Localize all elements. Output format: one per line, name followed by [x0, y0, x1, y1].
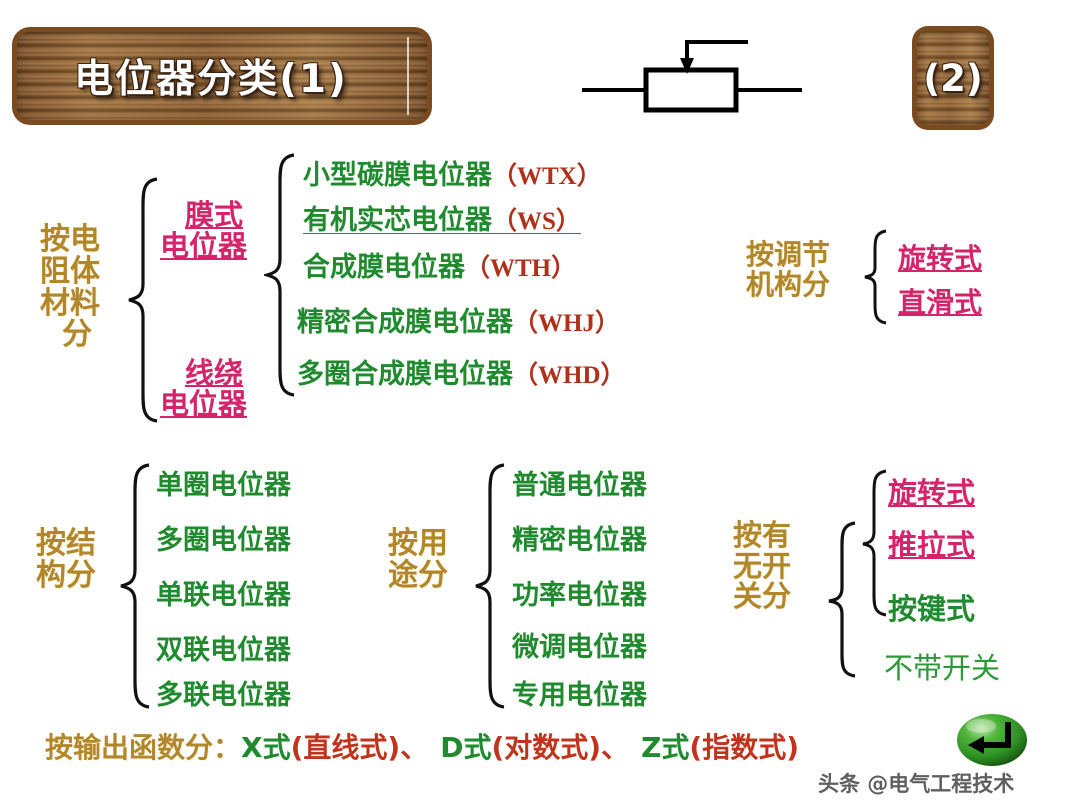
list-item: 推拉式	[888, 522, 975, 564]
list-item: 按键式	[888, 586, 975, 628]
output-function-line: 按输出函数分：X式(直线式)、D式(对数式)、Z式(指数式)	[45, 726, 799, 766]
list-item: 单圈电位器	[156, 463, 291, 502]
output-function-code: X式	[241, 731, 291, 764]
list-item: 有机实芯电位器（WS）	[303, 198, 581, 237]
group-label-by-switch: 按有 无开 关分	[733, 520, 791, 612]
page-number-text: (2)	[912, 26, 994, 130]
list-item: 精密电位器	[512, 518, 647, 557]
list-item: 小型碳膜电位器（WTX）	[303, 153, 602, 192]
page-title: 电位器分类(1)	[12, 27, 410, 125]
brace-by-switch-outer	[826, 520, 862, 680]
list-item: 合成膜电位器（WTH）	[303, 245, 576, 284]
list-item: 不带开关	[884, 645, 1000, 687]
list-item: 功率电位器	[512, 573, 647, 612]
output-function-prefix: 按输出函数分：	[45, 731, 241, 764]
group-label-by-adjusting-mechanism: 按调节 机构分	[746, 240, 830, 299]
list-item: 直滑式	[898, 281, 982, 321]
output-function-desc: (指数式)	[689, 731, 799, 764]
brace-by-application	[473, 462, 511, 710]
brace-by-structure	[118, 462, 156, 710]
list-item: 普通电位器	[512, 463, 647, 502]
brace-by-adjusting-mechanism	[862, 228, 892, 326]
output-function-code: Z式	[641, 731, 689, 764]
subgroup-label-film-type: 膜式 电位器	[160, 200, 268, 261]
watermark-text: 头条 @电气工程技术	[818, 768, 1014, 798]
list-item: 双联电位器	[156, 628, 291, 667]
group-label-by-application: 按用 途分	[388, 528, 448, 592]
slide-canvas: 电位器分类(1) (2) 按电 阻体 材料 分 膜式 电位器 线绕 电位器 小型…	[0, 0, 1080, 810]
list-item: 精密合成膜电位器（WHJ）	[297, 300, 620, 339]
list-item: 旋转式	[888, 470, 975, 512]
return-arrow-icon[interactable]	[956, 712, 1028, 768]
list-item: 多圈合成膜电位器（WHD）	[297, 352, 626, 391]
list-item: 多圈电位器	[156, 518, 291, 557]
list-item: 专用电位器	[512, 673, 647, 712]
potentiometer-circuit-symbol	[580, 28, 805, 120]
list-item: 微调电位器	[512, 625, 647, 664]
subgroup-label-wire-wound: 线绕 电位器	[160, 358, 268, 419]
list-item: 旋转式	[898, 237, 982, 277]
page-number-badge: (2)	[912, 26, 994, 130]
list-item: 单联电位器	[156, 573, 291, 612]
list-item: 多联电位器	[156, 673, 291, 712]
group-label-by-resistive-material: 按电 阻体 材料 分	[40, 224, 100, 351]
output-function-desc: (直线式)、	[291, 731, 429, 764]
slide-title-plaque: 电位器分类(1)	[12, 27, 432, 125]
group-label-by-structure: 按结 构分	[36, 528, 96, 592]
output-function-desc: (对数式)、	[491, 731, 629, 764]
output-function-code: D式	[440, 731, 491, 764]
